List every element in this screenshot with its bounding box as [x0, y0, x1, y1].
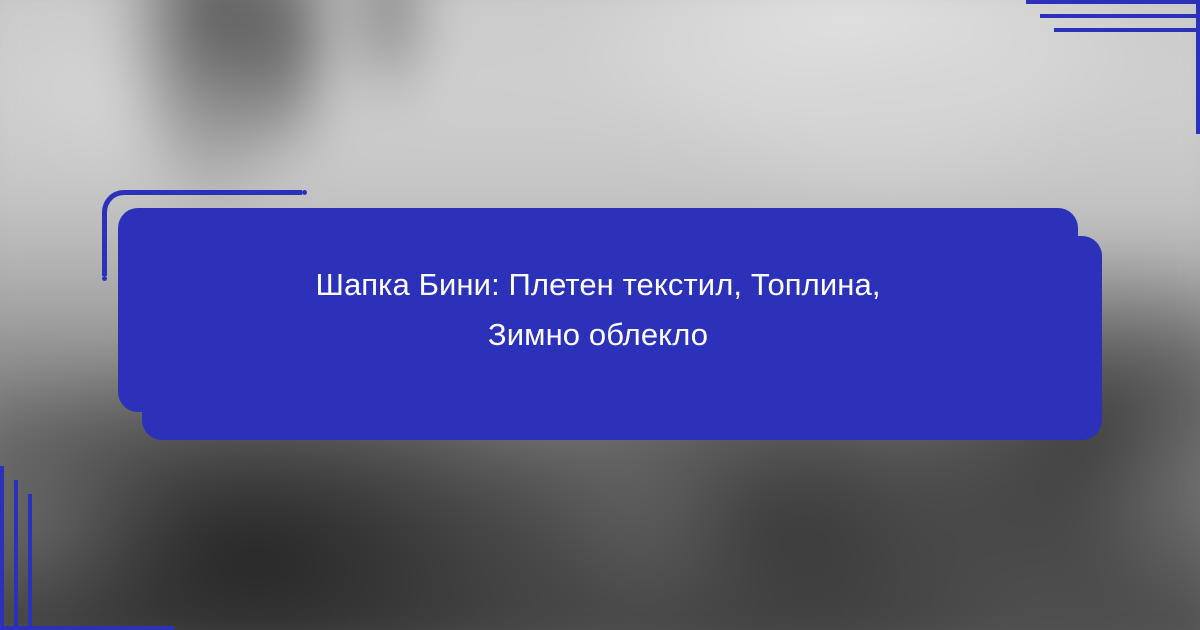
background-shape-beanie: [702, 3, 1086, 216]
headline-card-front: Шапка Бини: Плетен текстил, Топлина, Зим…: [118, 208, 1078, 412]
page-title-line-1: Шапка Бини: Плетен текстил, Топлина,: [315, 267, 880, 302]
page-title-line-2: Зимно облекло: [488, 317, 708, 352]
social-card-banner: Шапка Бини: Плетен текстил, Топлина, Зим…: [0, 0, 1200, 630]
headline-card-stack: Шапка Бини: Плетен текстил, Топлина, Зим…: [102, 190, 1102, 440]
page-title: Шапка Бини: Плетен текстил, Топлина, Зим…: [315, 260, 880, 360]
